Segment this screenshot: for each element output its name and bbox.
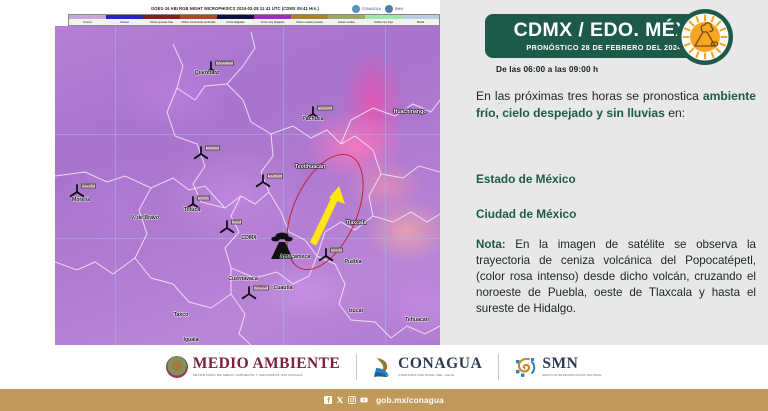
legend-item: Nubes medias: [328, 15, 365, 25]
wind-barb-icon: [241, 286, 258, 303]
yellow-arrow-ash-direction: [303, 182, 349, 252]
lead-after: en:: [665, 106, 685, 120]
sun-volcano-badge-icon: [676, 8, 734, 66]
forecast-lead-text: En las próximas tres horas se pronostica…: [476, 88, 756, 122]
city-label: Izúcar: [349, 308, 364, 314]
legend-item: Terreno: [69, 15, 106, 25]
forecast-note: Nota: En la imagen de satélite se observ…: [476, 237, 756, 317]
city-label: Cuernavaca: [228, 276, 257, 282]
legend-label: Cirros muy delgados: [254, 19, 291, 25]
city-label: Querétaro: [195, 70, 220, 76]
logo-divider: [498, 354, 499, 380]
legend-item: Cirros muy delgados: [254, 15, 291, 25]
conagua-logo: CONAGUA COMISIÓN NACIONAL DEL AGUA: [373, 356, 482, 378]
city-label: Teotihuacán: [295, 164, 325, 170]
legend-item: Oceano: [106, 15, 143, 25]
smn-logo: SMN SERVICIO METEOROLÓGICO NACIONAL: [515, 356, 602, 378]
instagram-icon[interactable]: [348, 396, 356, 404]
smn-subtitle: SERVICIO METEOROLÓGICO NACIONAL: [542, 374, 602, 377]
smn-mark-label: SMN: [395, 7, 404, 11]
youtube-icon[interactable]: [360, 396, 368, 404]
social-bar: gob.mx/conagua: [0, 389, 768, 411]
legend-label: Cirros delgados: [217, 19, 254, 25]
legend-label: Nubes convectivas profundas: [180, 19, 217, 25]
city-label: V. de Bravo: [131, 215, 159, 221]
facebook-icon[interactable]: [324, 396, 332, 404]
legend-item: Niebla: [402, 15, 439, 25]
city-label: Cuautla: [273, 285, 292, 291]
conagua-logo-small: CONAGUA: [352, 5, 381, 13]
conagua-mark-icon: [352, 5, 360, 13]
city-label: Tehuacán: [405, 317, 429, 323]
zone-estado-de-mexico: Estado de México: [476, 172, 576, 186]
medio-ambiente-title: MEDIO AMBIENTE: [193, 356, 340, 372]
smn-logo-small: SMN: [385, 5, 403, 13]
legend-item: Nubes gruesas frias: [143, 15, 180, 25]
city-label: Huachinango: [394, 109, 427, 115]
conagua-eagle-water-icon: [373, 356, 393, 378]
smn-title: SMN: [542, 356, 602, 372]
legend-label: Oceano: [106, 19, 143, 25]
satellite-color-legend: TerrenoOceanoNubes gruesas friasNubes co…: [68, 14, 440, 26]
footer-logos: MEDIO AMBIENTE SECRETARÍA DE MEDIO AMBIE…: [0, 345, 768, 389]
city-label: CDMX: [241, 235, 256, 241]
conagua-title: CONAGUA: [398, 356, 482, 372]
legend-label: Nubes medias gruesas: [291, 19, 328, 25]
note-label: Nota:: [476, 238, 506, 251]
legend-label: Nubes gruesas frias: [143, 19, 180, 25]
logo-divider: [356, 354, 357, 380]
wind-barb-icon: [255, 174, 272, 191]
x-twitter-icon[interactable]: [336, 396, 344, 404]
city-label: Taxco: [174, 312, 189, 318]
page-title: CDMX / EDO. MÉX.: [514, 20, 695, 41]
conagua-subtitle: COMISIÓN NACIONAL DEL AGUA: [398, 374, 482, 377]
legend-item: Cirros delgados: [217, 15, 254, 25]
smn-mark-icon: [385, 5, 393, 13]
legend-label: Nubes medias: [328, 19, 365, 25]
city-label: Tlaxcala: [346, 220, 366, 226]
wind-barb-icon: [318, 248, 335, 265]
city-label: Morelia: [72, 197, 90, 203]
city-label: Puebla: [344, 259, 361, 265]
forecast-hours: De las 06:00 a las 09:00 h: [496, 64, 598, 74]
note-body: En la imagen de satélite se observa la t…: [476, 238, 756, 315]
legend-label: Terreno: [69, 19, 106, 25]
legend-item: Nubes medias gruesas: [291, 15, 328, 25]
zone-ciudad-de-mexico: Ciudad de México: [476, 207, 576, 221]
legend-item: Niebla muy baja: [365, 15, 402, 25]
legend-item: Nubes convectivas profundas: [180, 15, 217, 25]
social-url[interactable]: gob.mx/conagua: [376, 396, 444, 405]
legend-label: Niebla muy baja: [365, 19, 402, 25]
medio-ambiente-subtitle: SECRETARÍA DE MEDIO AMBIENTE Y RECURSOS …: [193, 374, 340, 377]
city-label: Amecameca: [280, 254, 310, 260]
wind-barb-icon: [193, 146, 210, 163]
legend-label: Niebla: [402, 19, 439, 25]
city-label: Iguala: [184, 337, 199, 343]
lead-before: En las próximas tres horas se pronostica: [476, 89, 703, 103]
forecast-date: PRONÓSTICO 28 DE FEBRERO DEL 2024: [526, 43, 681, 52]
satellite-image-panel: GOES-16 ABI RGB NIGHT MICROPHISICS 2024-…: [0, 0, 440, 345]
satellite-title: GOES-16 ABI RGB NIGHT MICROPHISICS 2024-…: [120, 4, 350, 13]
conagua-mark-label: CONAGUA: [362, 7, 382, 11]
satellite-map: MORELIATOLUCAQUERETAROPACHUCATEXCOCOCDMX…: [55, 26, 440, 345]
medio-ambiente-logo: MEDIO AMBIENTE SECRETARÍA DE MEDIO AMBIE…: [166, 356, 340, 378]
city-label: Toluca: [184, 207, 200, 213]
satellite-source-logos: CONAGUA SMN: [352, 3, 438, 14]
forecast-infographic: GOES-16 ABI RGB NIGHT MICROPHISICS 2024-…: [0, 0, 768, 411]
wind-barb-icon: [219, 220, 236, 237]
mexico-coat-of-arms-icon: [166, 356, 188, 378]
city-label: Pachuca: [302, 116, 323, 122]
smn-spiral-gear-icon: [515, 356, 537, 378]
